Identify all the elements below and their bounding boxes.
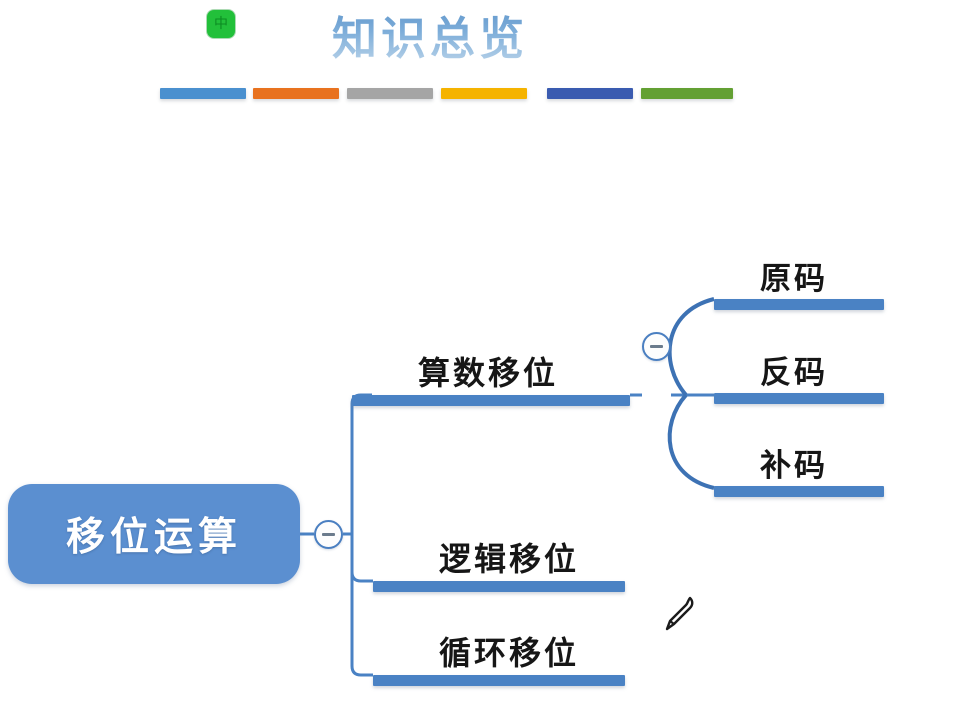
node-underline — [352, 395, 630, 406]
mindmap-root-node[interactable]: 移位运算 — [8, 484, 300, 584]
collapse-toggle-root[interactable] — [314, 520, 343, 549]
mindmap-node-twos-complement[interactable]: 补码 — [714, 423, 884, 497]
node-underline — [373, 581, 625, 592]
mindmap-node-circular-shift[interactable]: 循环移位 — [373, 612, 625, 686]
mindmap-node-ones-complement[interactable]: 反码 — [714, 330, 884, 404]
mindmap-node-label: 原码 — [760, 253, 828, 298]
mindmap-node-label: 补码 — [760, 440, 828, 485]
mindmap-node-label: 算数移位 — [418, 348, 558, 394]
mindmap-node-label: 逻辑移位 — [439, 534, 579, 580]
mindmap-root-label: 移位运算 — [66, 506, 242, 562]
minus-icon — [650, 345, 663, 348]
mindmap-node-arithmetic-shift[interactable]: 算数移位 — [352, 330, 630, 406]
node-underline — [714, 486, 884, 497]
node-underline — [714, 393, 884, 404]
mindmap-node-label: 反码 — [760, 347, 828, 392]
node-underline — [373, 675, 625, 686]
mindmap-node-label: 循环移位 — [439, 628, 579, 674]
collapse-toggle-arithmetic-shift[interactable] — [642, 332, 671, 361]
mindmap-node-logical-shift[interactable]: 逻辑移位 — [373, 518, 625, 592]
mindmap-node-true-form[interactable]: 原码 — [714, 236, 884, 310]
presentation-canvas: 中 知识总览 移位运算 算数移位 — [0, 0, 957, 719]
node-underline — [714, 299, 884, 310]
minus-icon — [322, 533, 335, 536]
